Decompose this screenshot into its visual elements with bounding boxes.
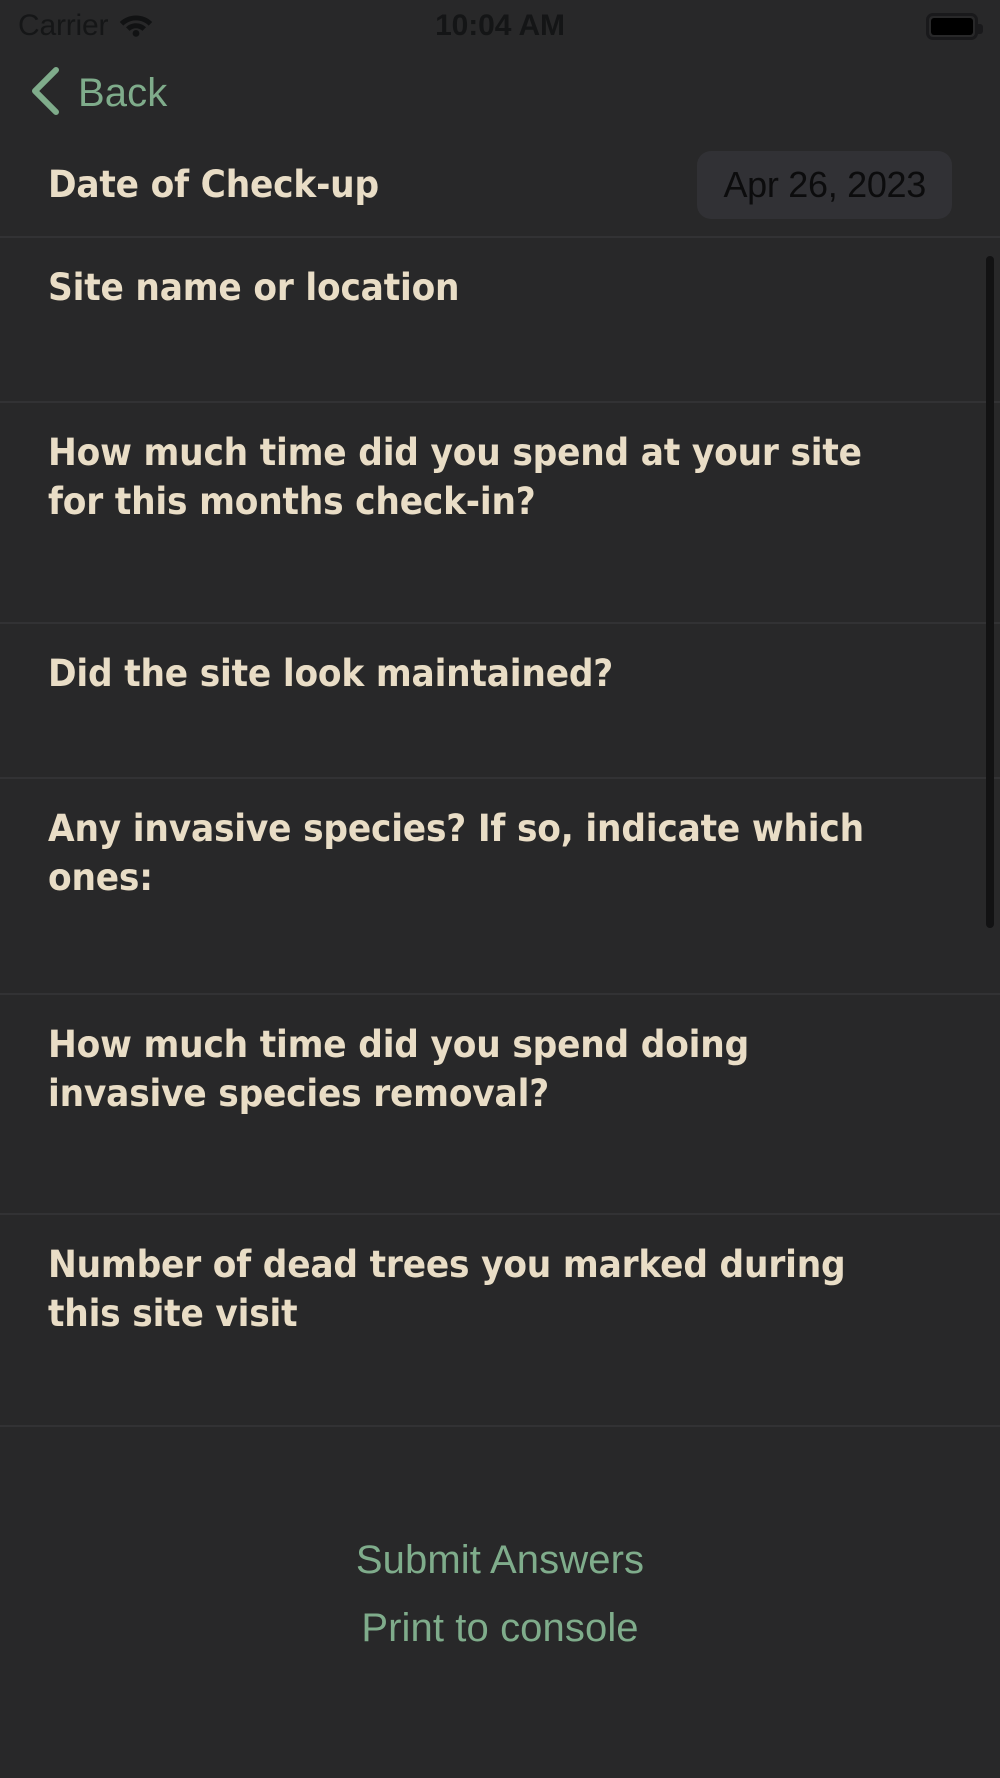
print-to-console-button[interactable]: Print to console — [361, 1608, 638, 1648]
chevron-left-icon — [28, 66, 62, 121]
question-label: Any invasive species? If so, indicate wh… — [48, 805, 889, 903]
question-label: Did the site look maintained? — [48, 650, 889, 699]
form-list: Date of Check-up Apr 26, 2023 Site name … — [0, 134, 1000, 1532]
question-row-dead-trees: Number of dead trees you marked during t… — [0, 1215, 1000, 1427]
status-bar: Carrier 10:04 AM — [0, 0, 1000, 52]
submit-answers-button[interactable]: Submit Answers — [356, 1540, 644, 1580]
question-row-site-name: Site name or location — [0, 238, 1000, 403]
question-row-removal-time: How much time did you spend doing invasi… — [0, 995, 1000, 1215]
question-label: How much time did you spend doing invasi… — [48, 1021, 889, 1119]
back-button[interactable]: Back — [0, 66, 167, 121]
app-screen: Carrier 10:04 AM Bac — [0, 0, 1000, 1778]
question-row-time-at-site: How much time did you spend at your site… — [0, 403, 1000, 624]
status-bar-right — [926, 13, 978, 40]
scrollbar-track[interactable] — [986, 240, 994, 940]
date-of-checkup-label: Date of Check-up — [48, 161, 379, 210]
question-label: Site name or location — [48, 264, 889, 313]
date-picker-value[interactable]: Apr 26, 2023 — [697, 151, 952, 219]
battery-full-icon — [926, 13, 978, 40]
date-of-checkup-row: Date of Check-up Apr 26, 2023 — [0, 134, 1000, 238]
status-bar-time: 10:04 AM — [0, 9, 1000, 43]
form-actions: Submit Answers Print to console — [0, 1540, 1000, 1648]
question-label: Number of dead trees you marked during t… — [48, 1241, 889, 1339]
back-button-label: Back — [78, 73, 167, 113]
scrollbar-thumb[interactable] — [986, 256, 994, 928]
question-row-invasive-species: Any invasive species? If so, indicate wh… — [0, 779, 1000, 995]
question-row-site-maintained: Did the site look maintained? — [0, 624, 1000, 779]
navigation-bar: Back — [0, 52, 1000, 134]
question-label: How much time did you spend at your site… — [48, 429, 889, 527]
